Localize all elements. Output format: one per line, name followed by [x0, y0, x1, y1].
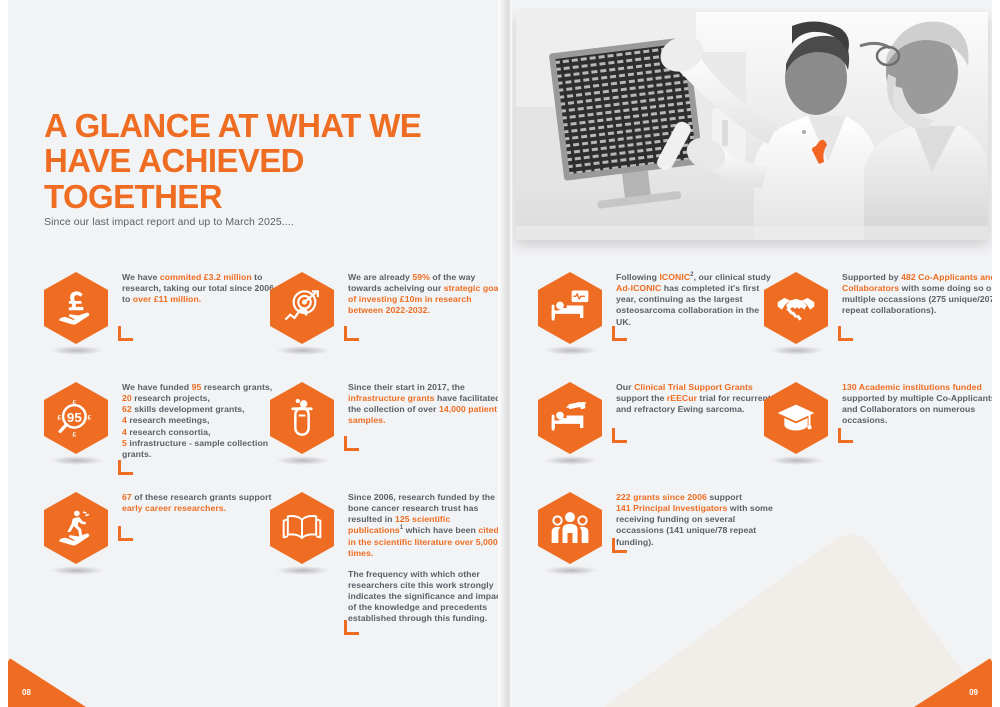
- body-text: We have: [122, 272, 160, 282]
- hand-holding-pound-icon: [56, 288, 96, 328]
- page-title: A GLANCE AT WHAT WE HAVE ACHIEVED TOGETH…: [44, 108, 464, 214]
- body-text: Since their start in 2017, the: [348, 382, 465, 392]
- stat-icon-holder: [538, 382, 604, 454]
- body-text: Supported by: [842, 272, 901, 282]
- body-text: research meetings,: [127, 415, 210, 425]
- body-text: We are already: [348, 272, 412, 282]
- hexagon-shadow: [770, 346, 824, 355]
- hexagon-badge: [538, 382, 602, 454]
- stat-body: 67 of these research grants support earl…: [110, 492, 282, 564]
- stat-paragraph: We have commited £3.2 million to researc…: [122, 272, 280, 305]
- stat-item: Since their start in 2017, the infrastru…: [270, 382, 498, 454]
- stat-paragraph: Supported by 482 Co-Applicants and Colla…: [842, 272, 992, 317]
- body-text: which have been: [403, 525, 478, 535]
- stat-body: Following ICONIC2, our clinical study Ad…: [604, 272, 776, 344]
- highlight-text: 59%: [412, 272, 430, 282]
- stat-paragraph: 222 grants since 2006 support141 Princip…: [616, 492, 776, 548]
- lab-photo: [516, 12, 988, 240]
- lab-photo-illustration: [516, 12, 988, 240]
- hexagon-badge: [538, 272, 602, 344]
- stat-body: 222 grants since 2006 support141 Princip…: [604, 492, 776, 564]
- corner-bracket-accent: [344, 326, 359, 341]
- stat-icon-holder: [270, 272, 336, 344]
- body-text: , our clinical study: [694, 272, 771, 282]
- hexagon-badge: [270, 272, 334, 344]
- right-page: Following ICONIC2, our clinical study Ad…: [512, 0, 992, 707]
- magnifier-95-icon: 95 £ £ £ £: [56, 398, 96, 438]
- body-text: We have funded: [122, 382, 192, 392]
- test-tube-icon: [282, 398, 322, 438]
- stat-body: Our Clinical Trial Support Grants suppor…: [604, 382, 776, 454]
- stat-body: Since their start in 2017, the infrastru…: [336, 382, 498, 454]
- page-number-left: 08: [8, 657, 86, 707]
- body-text: support: [707, 492, 742, 502]
- hexagon-badge: [764, 272, 828, 344]
- stat-paragraph: Our Clinical Trial Support Grants suppor…: [616, 382, 776, 415]
- body-text: skills development grants,: [132, 404, 245, 414]
- highlight-text: over £11 million.: [133, 294, 201, 304]
- hexagon-badge: 95 £ £ £ £: [44, 382, 108, 454]
- stat-item: 67 of these research grants support earl…: [44, 492, 282, 564]
- stat-item: We have commited £3.2 million to researc…: [44, 272, 280, 344]
- hospital-bed-syringe-icon: [550, 398, 590, 438]
- highlight-text: early career researchers.: [122, 503, 226, 513]
- stat-paragraph: The frequency with which other researche…: [348, 569, 498, 625]
- hexagon-badge: [44, 272, 108, 344]
- hexagon-shadow: [50, 566, 104, 575]
- body-text: supported by multiple Co-Applicants and …: [842, 393, 992, 425]
- stat-paragraph: We are already 59% of the way towards ac…: [348, 272, 498, 317]
- body-text: The frequency with which other researche…: [348, 569, 498, 624]
- highlight-text: 222 grants since 2006: [616, 492, 707, 502]
- highlight-text: 20: [122, 393, 132, 403]
- corner-bracket-accent: [344, 620, 359, 635]
- corner-bracket-accent: [118, 526, 133, 541]
- hexagon-shadow: [544, 346, 598, 355]
- stat-body: Supported by 482 Co-Applicants and Colla…: [830, 272, 992, 344]
- body-text: Following: [616, 272, 659, 282]
- stat-item: Since 2006, research funded by the bone …: [270, 492, 498, 624]
- hexagon-badge: [44, 492, 108, 564]
- highlight-text: commited £3.2 million: [160, 272, 252, 282]
- left-page: A GLANCE AT WHAT WE HAVE ACHIEVED TOGETH…: [8, 0, 498, 707]
- stat-body: We have commited £3.2 million to researc…: [110, 272, 280, 344]
- handshake-icon: [776, 288, 816, 328]
- highlight-text: 130 Academic institutions funded: [842, 382, 982, 392]
- stat-item: We are already 59% of the way towards ac…: [270, 272, 498, 344]
- corner-bracket-accent: [612, 538, 627, 553]
- open-book-icon: [282, 508, 322, 548]
- highlight-text: infrastructure grants: [348, 393, 435, 403]
- svg-text:£: £: [72, 431, 76, 438]
- highlight-text: Ad-ICONIC: [616, 283, 661, 293]
- highlight-text: Clinical Trial Support Grants: [634, 382, 753, 392]
- people-group-icon: [550, 508, 590, 548]
- corner-bracket-accent: [838, 326, 853, 341]
- svg-text:95: 95: [67, 410, 82, 425]
- stat-icon-holder: [764, 272, 830, 344]
- stat-paragraph: Since their start in 2017, the infrastru…: [348, 382, 498, 427]
- page-subtitle: Since our last impact report and up to M…: [44, 216, 294, 228]
- body-text: Our: [616, 382, 634, 392]
- stat-icon-holder: [44, 272, 110, 344]
- corner-bracket-accent: [612, 326, 627, 341]
- stat-paragraph: Following ICONIC2, our clinical study Ad…: [616, 272, 776, 328]
- stat-paragraph: We have funded 95 research grants,20 res…: [122, 382, 282, 460]
- body-text: support the: [616, 393, 667, 403]
- stat-item: 222 grants since 2006 support141 Princip…: [538, 492, 776, 564]
- body-text: of these research grants support: [132, 492, 272, 502]
- stat-body: 130 Academic institutions funded support…: [830, 382, 992, 454]
- stat-item: 130 Academic institutions funded support…: [764, 382, 992, 454]
- stat-paragraph: Since 2006, research funded by the bone …: [348, 492, 498, 559]
- corner-bracket-accent: [838, 428, 853, 443]
- stat-item: Following ICONIC2, our clinical study Ad…: [538, 272, 776, 344]
- hexagon-shadow: [50, 456, 104, 465]
- hand-holding-runner-icon: [56, 508, 96, 548]
- stat-body: Since 2006, research funded by the bone …: [336, 492, 498, 624]
- hexagon-shadow: [276, 566, 330, 575]
- hexagon-shadow: [276, 346, 330, 355]
- corner-bracket-accent: [612, 428, 627, 443]
- hexagon-shadow: [770, 456, 824, 465]
- corner-bracket-accent: [118, 326, 133, 341]
- highlight-text: rEECur: [667, 393, 697, 403]
- corner-bracket-accent: [118, 460, 133, 475]
- stat-body: We are already 59% of the way towards ac…: [336, 272, 498, 344]
- hexagon-shadow: [544, 566, 598, 575]
- stat-item: Supported by 482 Co-Applicants and Colla…: [764, 272, 992, 344]
- stat-paragraph: 67 of these research grants support earl…: [122, 492, 282, 514]
- stat-icon-holder: [44, 492, 110, 564]
- highlight-text: 95: [192, 382, 202, 392]
- stat-icon-holder: [764, 382, 830, 454]
- hexagon-badge: [764, 382, 828, 454]
- spread-gutter: [498, 0, 512, 707]
- page-number-left-label: 08: [22, 688, 31, 697]
- stat-item: Our Clinical Trial Support Grants suppor…: [538, 382, 776, 454]
- body-text: research projects,: [132, 393, 210, 403]
- target-growth-icon: [282, 288, 322, 328]
- highlight-text: 67: [122, 492, 132, 502]
- magazine-spread: A GLANCE AT WHAT WE HAVE ACHIEVED TOGETH…: [0, 0, 1000, 707]
- hexagon-shadow: [276, 456, 330, 465]
- hospital-bed-monitor-icon: [550, 288, 590, 328]
- stat-icon-holder: [270, 382, 336, 454]
- stat-icon-holder: [538, 272, 604, 344]
- stat-icon-holder: [538, 492, 604, 564]
- highlight-text: ICONIC: [659, 272, 690, 282]
- svg-text:£: £: [87, 415, 91, 422]
- stat-icon-holder: [270, 492, 336, 624]
- body-text: research consortia,: [127, 427, 211, 437]
- stat-icon-holder: 95 £ £ £ £: [44, 382, 110, 460]
- hexagon-shadow: [50, 346, 104, 355]
- page-number-right-label: 09: [969, 688, 978, 697]
- stat-paragraph: 130 Academic institutions funded support…: [842, 382, 992, 427]
- highlight-text: 141 Principal Investigators: [616, 503, 727, 513]
- stat-item: 95 £ £ £ £We have funded 95 research gra…: [44, 382, 282, 460]
- svg-text:£: £: [57, 415, 61, 422]
- hexagon-badge: [270, 492, 334, 564]
- body-text: research grants,: [201, 382, 272, 392]
- svg-text:£: £: [72, 400, 76, 407]
- corner-bracket-accent: [344, 436, 359, 451]
- hexagon-badge: [270, 382, 334, 454]
- highlight-text: 62: [122, 404, 132, 414]
- hexagon-shadow: [544, 456, 598, 465]
- graduation-cap-icon: [776, 398, 816, 438]
- hexagon-badge: [538, 492, 602, 564]
- body-text: infrastructure - sample collection grant…: [122, 438, 268, 459]
- stat-body: We have funded 95 research grants,20 res…: [110, 382, 282, 460]
